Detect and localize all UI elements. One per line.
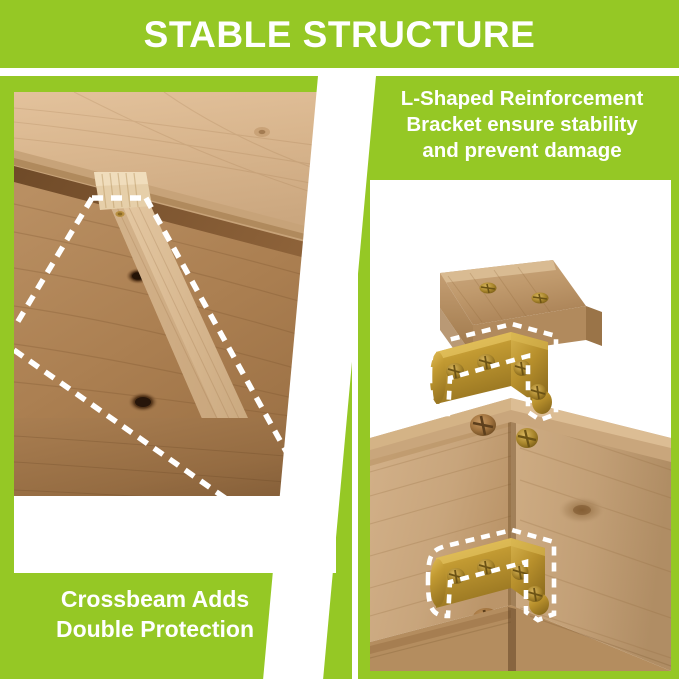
bracket-photo bbox=[370, 180, 671, 671]
upper-bracket-screw-4 bbox=[530, 384, 547, 400]
left-feature-card: Crossbeam Adds Double Protection bbox=[0, 76, 352, 679]
cap-screw-2 bbox=[532, 293, 549, 304]
header-banner: STABLE STRUCTURE bbox=[0, 0, 679, 68]
right-photo-frame bbox=[370, 180, 671, 671]
left-caption-line-1: Crossbeam Adds bbox=[0, 584, 310, 614]
infographic-root: STABLE STRUCTURE bbox=[0, 0, 679, 679]
page-title: STABLE STRUCTURE bbox=[144, 16, 536, 53]
right-caption: L-Shaped Reinforcement Bracket ensure st… bbox=[372, 86, 672, 165]
right-caption-line-3: and prevent damage bbox=[372, 138, 672, 164]
right-caption-line-1: L-Shaped Reinforcement bbox=[372, 86, 672, 112]
cap-screw-1 bbox=[480, 283, 497, 294]
left-panel-screw-upper bbox=[470, 414, 496, 436]
right-caption-line-2: Bracket ensure stability bbox=[372, 112, 672, 138]
right-panel-screw-upper bbox=[516, 428, 538, 448]
right-feature-card: L-Shaped Reinforcement Bracket ensure st… bbox=[358, 76, 679, 679]
left-caption: Crossbeam Adds Double Protection bbox=[0, 584, 310, 645]
left-caption-line-2: Double Protection bbox=[0, 614, 310, 644]
lower-bracket-screw-4 bbox=[527, 586, 544, 602]
